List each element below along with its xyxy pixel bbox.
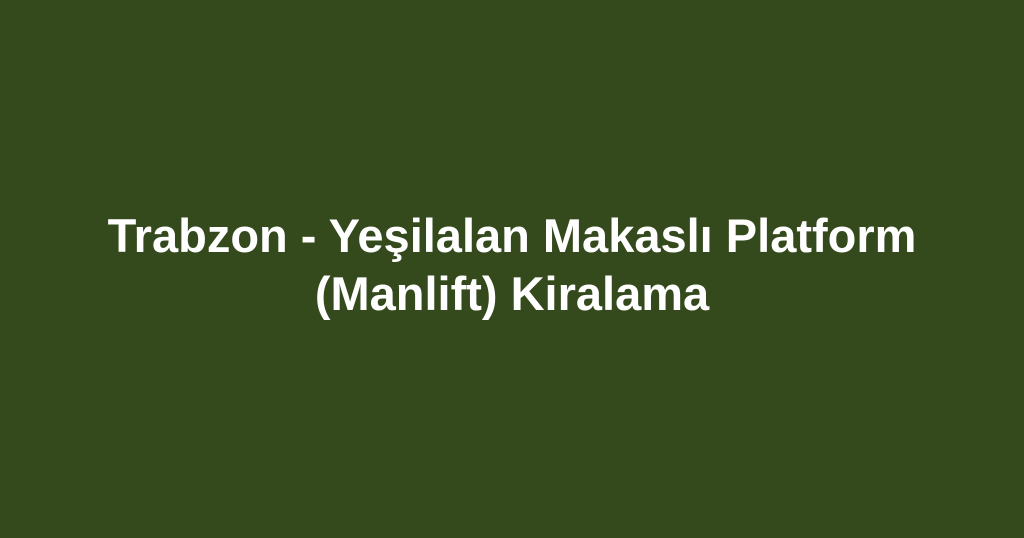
page-title: Trabzon - Yeşilalan Makaslı Platform (Ma… [62, 207, 962, 323]
title-block: Trabzon - Yeşilalan Makaslı Platform (Ma… [62, 207, 962, 323]
share-card: Trabzon - Yeşilalan Makaslı Platform (Ma… [0, 0, 1024, 538]
